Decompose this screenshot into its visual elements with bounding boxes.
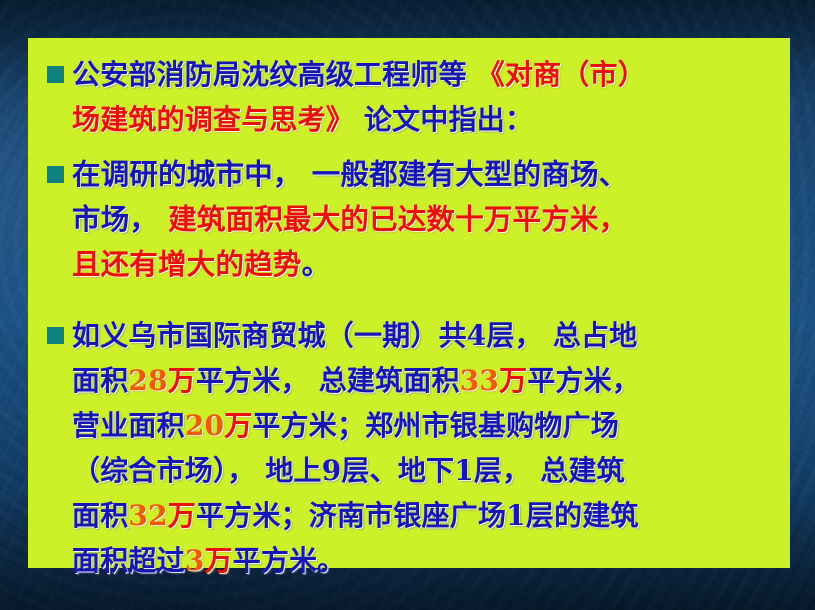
presentation-slide: 公安部消防局沈纹高级工程师等 《对商（市） 场建筑的调查与思考》 论文中指出： … bbox=[0, 0, 815, 610]
text-line: 如义乌市国际商贸城（一期）共4层， 总占地 bbox=[72, 313, 780, 358]
text-line: 面积32万平方米；济南市银座广场1层的建筑 bbox=[72, 493, 780, 538]
text-span-blue: 面积 bbox=[72, 499, 128, 532]
text-span-blue: 。 bbox=[302, 247, 331, 281]
spacer bbox=[40, 287, 780, 313]
text-line: 在调研的城市中， 一般都建有大型的商场、 bbox=[72, 152, 780, 197]
text-span-red: 场建筑的调查与思考》 bbox=[72, 103, 354, 136]
square-bullet-icon bbox=[47, 166, 64, 183]
text-line: （综合市场）， 地上9层、地下1层， 总建筑 bbox=[72, 448, 780, 493]
text-span-num: 32 bbox=[128, 499, 167, 532]
text-span-num: 33 bbox=[460, 364, 499, 397]
text-span-red: 且还有增大的趋势 bbox=[72, 247, 302, 281]
text-line: 营业面积20万平方米；郑州市银基购物广场 bbox=[72, 403, 780, 448]
text-span-num: 3 bbox=[185, 544, 205, 577]
text-span-red: 万 bbox=[499, 364, 527, 397]
text-span-red: 万 bbox=[205, 544, 233, 577]
text-span-num: 20 bbox=[185, 409, 224, 442]
text-span-blue: （综合市场）， 地上9层、地下1层， 总建筑 bbox=[72, 454, 625, 487]
text-line: 场建筑的调查与思考》 论文中指出： bbox=[72, 97, 780, 142]
text-span-red: 《对商（市） bbox=[477, 58, 646, 91]
text-span-num: 28 bbox=[128, 364, 167, 397]
text-span-blue: 平方米。 bbox=[233, 544, 346, 577]
bullet-block-2: 在调研的城市中， 一般都建有大型的商场、 市场， 建筑面积最大的已达数十万平方米… bbox=[40, 152, 780, 287]
square-bullet-icon bbox=[47, 327, 64, 344]
bullet-marker-col-1 bbox=[40, 52, 72, 83]
text-span-blue: 在调研的城市中， 一般都建有大型的商场、 bbox=[72, 157, 627, 191]
text-span-blue: 平方米， bbox=[527, 364, 640, 397]
text-span-red: 万 bbox=[224, 409, 252, 442]
bullet-text-2: 在调研的城市中， 一般都建有大型的商场、 市场， 建筑面积最大的已达数十万平方米… bbox=[72, 152, 780, 287]
square-bullet-icon bbox=[47, 66, 64, 83]
text-span-blue: 公安部消防局沈纹高级工程师等 bbox=[72, 58, 477, 91]
text-span-blue: 论文中指出： bbox=[354, 103, 533, 136]
text-span-blue: 面积超过 bbox=[72, 544, 185, 577]
spacer bbox=[40, 142, 780, 152]
text-span-red: 万 bbox=[168, 364, 196, 397]
bullet-block-3: 如义乌市国际商贸城（一期）共4层， 总占地 面积28万平方米， 总建筑面积33万… bbox=[40, 313, 780, 583]
text-line: 面积超过3万平方米。 bbox=[72, 538, 780, 583]
bullet-marker-col-2 bbox=[40, 152, 72, 183]
text-line: 公安部消防局沈纹高级工程师等 《对商（市） bbox=[72, 52, 780, 97]
text-span-red: 万 bbox=[168, 499, 196, 532]
bullet-block-1: 公安部消防局沈纹高级工程师等 《对商（市） 场建筑的调查与思考》 论文中指出： bbox=[40, 52, 780, 142]
text-span-blue: 如义乌市国际商贸城（一期）共4层， 总占地 bbox=[72, 319, 637, 352]
text-span-red: 建筑面积最大的已达数十万平方米， bbox=[168, 202, 627, 236]
text-line: 市场， 建筑面积最大的已达数十万平方米， bbox=[72, 197, 780, 242]
text-span-blue: 面积 bbox=[72, 364, 128, 397]
bullet-marker-col-3 bbox=[40, 313, 72, 344]
text-span-blue: 营业面积 bbox=[72, 409, 185, 442]
text-line: 面积28万平方米， 总建筑面积33万平方米， bbox=[72, 358, 780, 403]
text-span-blue: 平方米；郑州市银基购物广场 bbox=[252, 409, 619, 442]
content-panel: 公安部消防局沈纹高级工程师等 《对商（市） 场建筑的调查与思考》 论文中指出： … bbox=[28, 38, 790, 568]
text-span-blue: 平方米， 总建筑面积 bbox=[196, 364, 460, 397]
text-span-blue: 市场， bbox=[72, 202, 168, 236]
bullet-text-1: 公安部消防局沈纹高级工程师等 《对商（市） 场建筑的调查与思考》 论文中指出： bbox=[72, 52, 780, 142]
bullet-text-3: 如义乌市国际商贸城（一期）共4层， 总占地 面积28万平方米， 总建筑面积33万… bbox=[72, 313, 780, 583]
text-line: 且还有增大的趋势。 bbox=[72, 242, 780, 287]
text-span-blue: 平方米；济南市银座广场1层的建筑 bbox=[196, 499, 639, 532]
